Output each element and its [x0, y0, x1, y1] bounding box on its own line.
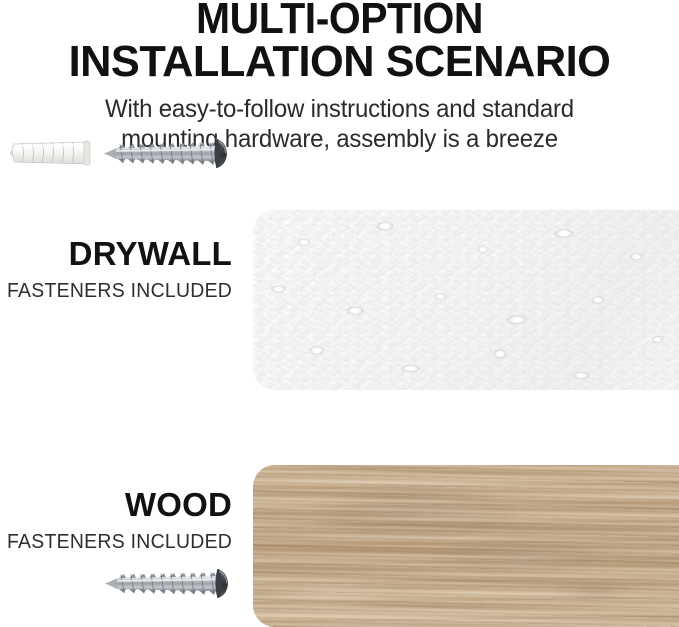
drywall-material-panel	[253, 210, 679, 390]
wood-fasteners-note: FASTENERS INCLUDED	[7, 531, 232, 554]
promo-graphic: MULTI-OPTION INSTALLATION SCENARIO With …	[0, 0, 679, 627]
page-title-line-1: MULTI-OPTION	[24, 0, 655, 40]
wood-hardware-svg	[105, 560, 241, 608]
page-subtitle-line-1: With easy-to-follow instructions and sta…	[14, 95, 666, 125]
page-title-line-2: INSTALLATION SCENARIO	[5, 41, 674, 83]
wood-hardware-group	[105, 560, 241, 613]
drywall-anchor-icon	[10, 141, 90, 165]
drywall-fasteners-note: FASTENERS INCLUDED	[7, 280, 232, 303]
drywall-hardware-group	[8, 130, 240, 183]
drywall-labels: DRYWALL FASTENERS INCLUDED	[0, 237, 240, 303]
wood-labels: WOOD FASTENERS INCLUDED	[0, 488, 240, 554]
section-wood: WOOD FASTENERS INCLUDED	[0, 460, 679, 627]
wood-screw-icon	[104, 139, 227, 168]
section-drywall: DRYWALL FASTENERS INCLUDED	[0, 205, 679, 390]
drywall-material-name: DRYWALL	[0, 237, 232, 270]
wood-screw-icon	[105, 569, 228, 598]
wood-texture	[253, 465, 679, 627]
wood-material-name: WOOD	[0, 488, 232, 521]
drywall-texture	[253, 210, 679, 390]
wood-material-panel	[253, 465, 679, 627]
drywall-hardware-svg	[8, 130, 240, 178]
